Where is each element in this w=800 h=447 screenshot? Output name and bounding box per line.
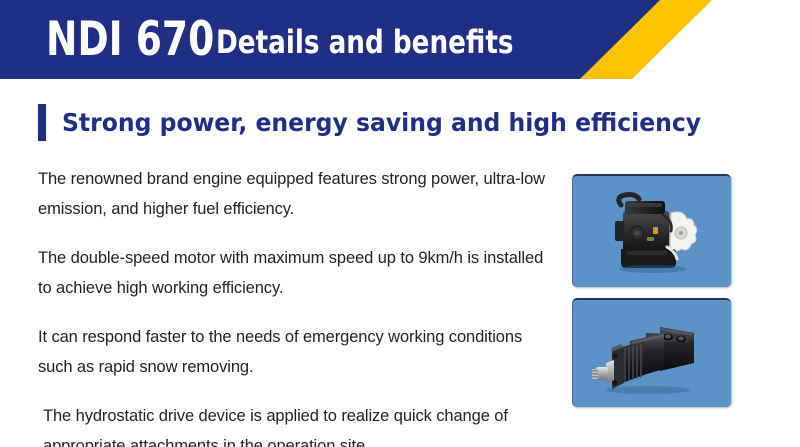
brochure-page: NDI 670 Details and benefits Strong powe… <box>0 0 800 447</box>
engine-photo-panel <box>572 174 731 287</box>
body-text-column: The renowned brand engine equipped featu… <box>38 164 558 447</box>
engine-icon <box>597 189 707 275</box>
paragraph-hydrostatic-drive: The hydrostatic drive device is applied … <box>38 401 558 447</box>
header-banner: NDI 670 Details and benefits <box>0 0 800 79</box>
heading-accent-bar <box>38 104 46 141</box>
hydraulic-motor-icon <box>590 313 714 395</box>
section-heading: Strong power, energy saving and high eff… <box>62 110 701 135</box>
paragraph-engine: The renowned brand engine equipped featu… <box>38 164 558 224</box>
hydraulic-motor-photo-panel <box>572 298 731 407</box>
motor-photo-inner <box>573 300 731 407</box>
section-heading-row: Strong power, energy saving and high eff… <box>38 104 742 141</box>
paragraph-motor-speed: The double-speed motor with maximum spee… <box>38 243 558 303</box>
header-title-group: NDI 670 Details and benefits <box>46 0 579 79</box>
header-subtitle: Details and benefits <box>216 26 514 58</box>
paragraph-emergency-response: It can respond faster to the needs of em… <box>38 322 558 382</box>
engine-photo-inner <box>573 176 731 287</box>
product-model-title: NDI 670 <box>46 16 214 63</box>
